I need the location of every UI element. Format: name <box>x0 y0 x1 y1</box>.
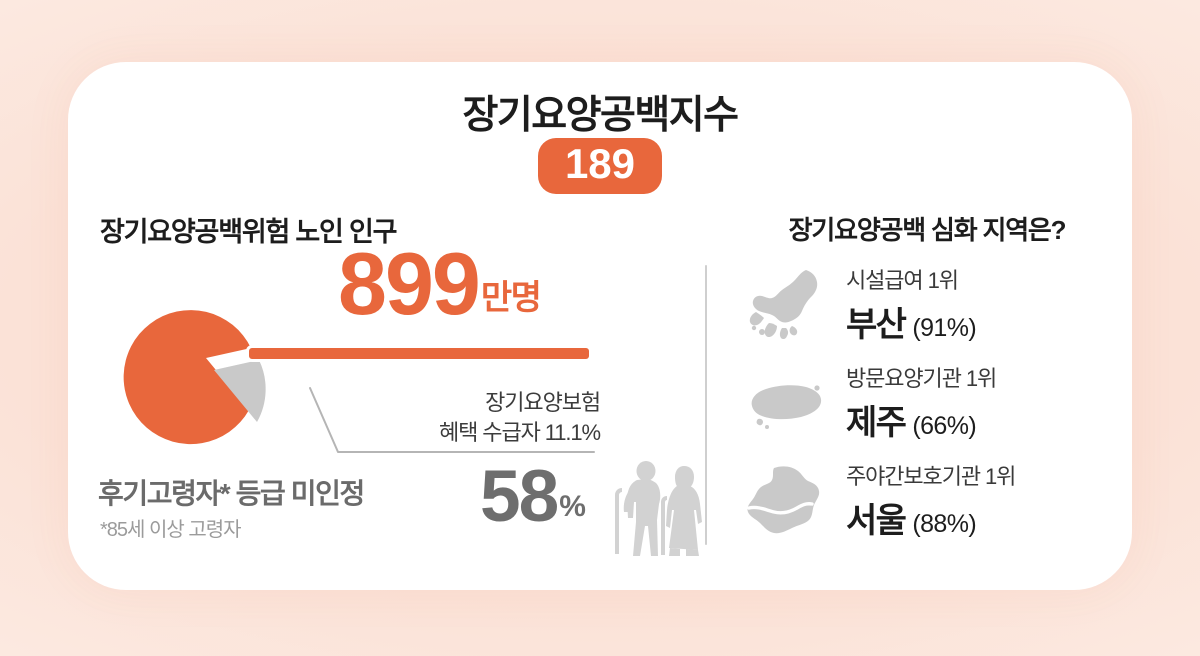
late-elderly-footnote: *85세 이상 고령자 <box>100 513 241 542</box>
content-card: 장기요양공백지수 189 장기요양공백위험 노인 인구 <box>68 62 1132 590</box>
jeju-percent: (66%) <box>912 412 976 441</box>
seoul-category: 주야간보호기관 1위 <box>846 464 1015 490</box>
busan-map-svg <box>736 266 832 348</box>
jeju-category: 방문요양기관 1위 <box>846 366 996 392</box>
seoul-text: 주야간보호기관 1위 서울 (88%) <box>846 464 1015 541</box>
elderly-couple-icon <box>606 460 720 560</box>
risk-population-value: 899 만명 <box>338 244 540 325</box>
infographic-canvas: 장기요양공백지수 189 장기요양공백위험 노인 인구 <box>0 0 1200 656</box>
jeju-map-icon <box>736 364 832 446</box>
late-elderly-percent-number: 58 <box>480 462 557 531</box>
late-elderly-percent: 58 % <box>480 462 586 531</box>
region-ranking-list: 시설급여 1위 부산 (91%) <box>736 258 1136 552</box>
jeju-name: 제주 <box>846 395 905 444</box>
busan-category: 시설급여 1위 <box>846 268 976 294</box>
leader-line-orange <box>246 345 592 362</box>
elderly-couple-svg <box>606 460 720 560</box>
late-elderly-stat: 후기고령자* 등급 미인정 *85세 이상 고령자 58 % <box>98 464 698 570</box>
late-elderly-percent-sign: % <box>559 490 586 531</box>
page-title: 장기요양공백지수 <box>68 84 1132 140</box>
beneficiary-callout: 장기요양보험 혜택 수급자 11.1% <box>364 388 600 449</box>
seoul-map-icon <box>736 462 832 544</box>
seoul-map-svg <box>736 462 832 544</box>
right-section-heading: 장기요양공백 심화 지역은? <box>722 210 1132 247</box>
region-item-seoul: 주야간보호기관 1위 서울 (88%) <box>736 454 1136 552</box>
index-badge: 189 <box>538 138 662 194</box>
seoul-percent: (88%) <box>912 510 976 539</box>
region-item-busan: 시설급여 1위 부산 (91%) <box>736 258 1136 356</box>
region-item-jeju: 방문요양기관 1위 제주 (66%) <box>736 356 1136 454</box>
busan-name: 부산 <box>846 297 905 346</box>
risk-population-unit: 만명 <box>481 270 541 325</box>
beneficiary-callout-line2: 혜택 수급자 11.1% <box>364 418 600 448</box>
jeju-map-svg <box>736 364 832 446</box>
risk-population-number: 899 <box>338 244 479 325</box>
busan-text: 시설급여 1위 부산 (91%) <box>846 268 976 345</box>
jeju-text: 방문요양기관 1위 제주 (66%) <box>846 366 996 443</box>
beneficiary-callout-line1: 장기요양보험 <box>364 388 600 418</box>
late-elderly-label: 후기고령자* 등급 미인정 <box>98 472 364 512</box>
seoul-name: 서울 <box>846 493 905 542</box>
busan-map-icon <box>736 266 832 348</box>
busan-percent: (91%) <box>912 314 976 343</box>
